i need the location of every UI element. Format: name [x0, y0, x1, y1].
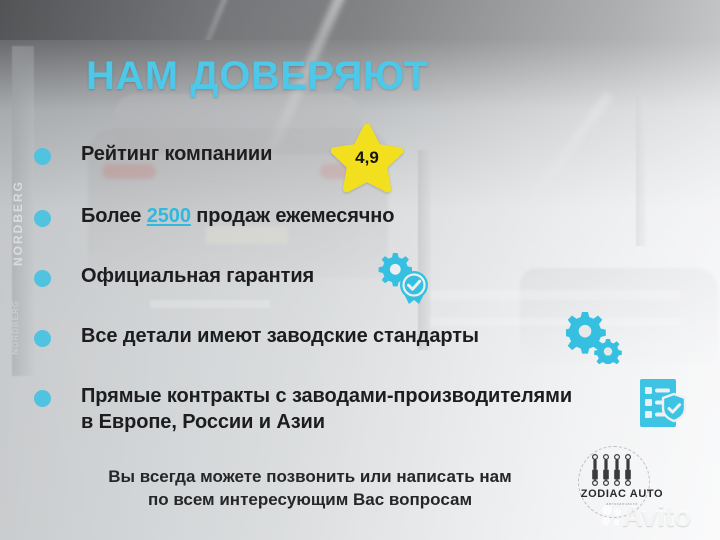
list-item: Более 2500 продаж ежемесячно: [34, 203, 694, 249]
avito-watermark: Avito: [622, 501, 691, 534]
bullet-dot-icon: [34, 390, 51, 407]
gear-award-icon: [374, 252, 434, 310]
bullet-dot-icon: [34, 210, 51, 227]
bullet-dot-icon: [34, 148, 51, 165]
list-item: Прямые контракты с заводами-производител…: [34, 383, 694, 436]
benefit-text-line1: Прямые контракты с заводами-производител…: [81, 385, 572, 407]
page-title: НАМ ДОВЕРЯЮТ: [86, 54, 429, 99]
avito-logo-icon: [600, 504, 624, 528]
benefit-text: Прямые контракты с заводами-производител…: [81, 383, 572, 436]
logo-name: ZODIAC AUTO: [576, 488, 668, 500]
footer-note: Вы всегда можете позвонить или написать …: [60, 466, 560, 512]
rating-value: 4,9: [331, 148, 403, 168]
benefit-text-line2: в Европе, России и Азии: [81, 411, 325, 433]
benefit-text: Официальная гарантия: [81, 263, 314, 289]
list-item: Официальная гарантия: [34, 263, 694, 309]
benefit-text: Более 2500 продаж ежемесячно: [81, 203, 394, 229]
footer-line-2: по всем интересующим Вас вопросам: [148, 490, 472, 509]
bullet-dot-icon: [34, 270, 51, 287]
benefit-prefix: Более: [81, 205, 147, 227]
benefit-text: Все детали имеют заводские стандарты: [81, 323, 479, 349]
gears-icon: [566, 312, 624, 364]
sales-count-highlight: 2500: [147, 205, 191, 227]
star-rating-icon: 4,9: [331, 124, 403, 194]
contract-shield-icon: [634, 376, 690, 430]
poster-content: НАМ ДОВЕРЯЮТ Рейтинг компаниии Более 250…: [0, 0, 720, 540]
benefit-text: Рейтинг компаниии: [81, 141, 272, 167]
bullet-dot-icon: [34, 330, 51, 347]
promo-poster: NORDBERG NORDBERG НАМ ДОВЕРЯЮТ Рейтинг к…: [0, 0, 720, 540]
footer-line-1: Вы всегда можете позвонить или написать …: [108, 467, 511, 486]
benefit-suffix: продаж ежемесячно: [191, 205, 395, 227]
